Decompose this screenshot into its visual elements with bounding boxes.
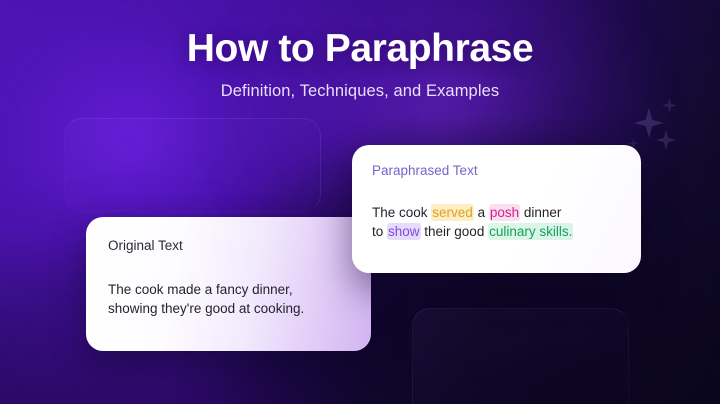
paraphrased-segment-plain-5: their good (421, 224, 489, 239)
paraphrased-segment-plain-1: The cook (372, 205, 431, 220)
highlight-posh: posh (489, 204, 520, 221)
paraphrased-segment-plain-2: a (474, 205, 489, 220)
page-subtitle: Definition, Techniques, and Examples (0, 81, 720, 101)
original-text-line-1: The cook made a fancy dinner, (108, 282, 293, 297)
paraphrased-text-label: Paraphrased Text (372, 162, 621, 179)
header-block: How to Paraphrase Definition, Techniques… (0, 26, 720, 101)
slide-canvas: How to Paraphrase Definition, Techniques… (0, 0, 720, 404)
paraphrased-segment-plain-3: dinner (520, 205, 561, 220)
highlight-served: served (431, 204, 474, 221)
paraphrased-text-body: The cook served a posh dinnerto show the… (372, 203, 621, 241)
original-text-label: Original Text (108, 237, 349, 254)
paraphrased-segment-plain-4: to (372, 224, 387, 239)
original-text-card[interactable]: Original Text The cook made a fancy dinn… (86, 217, 371, 351)
page-title: How to Paraphrase (0, 26, 720, 72)
highlight-show: show (387, 223, 421, 240)
paraphrased-text-card[interactable]: Paraphrased Text The cook served a posh … (352, 145, 641, 273)
original-text-line-2: showing they're good at cooking. (108, 301, 304, 316)
highlight-culinary-skills: culinary skills. (488, 223, 573, 240)
original-text-body: The cook made a fancy dinner, showing th… (108, 280, 349, 318)
